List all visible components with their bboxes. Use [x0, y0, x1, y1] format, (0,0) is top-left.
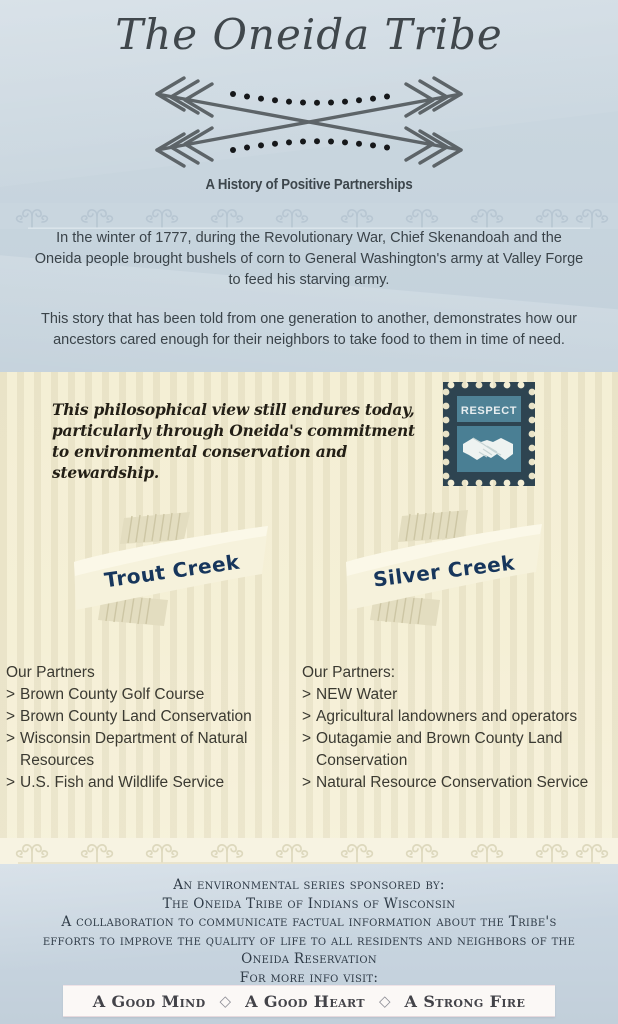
- partner-label: U.S. Fish and Wildlife Service: [20, 774, 224, 791]
- ribbon-banner-silver-creek: Silver Creek: [344, 510, 544, 630]
- bullet-marker-icon: >: [302, 772, 311, 794]
- partners-list-silver-creek: Our Partners: > NEW Water > Agricultural…: [302, 662, 614, 794]
- partner-label: NEW Water: [316, 686, 397, 703]
- sponsor-line: efforts to improve the quality of life t…: [0, 932, 618, 951]
- philosophy-statement: This philosophical view still endures to…: [52, 400, 432, 484]
- partner-label: Agricultural landowners and operators: [316, 708, 577, 725]
- partner-label: Wisconsin Department of Natural Resource…: [20, 730, 247, 769]
- diamond-separator-icon: ◇: [379, 994, 391, 1009]
- infographic-page: The Oneida Tribe: [0, 0, 618, 1024]
- sponsor-line: An environmental series sponsored by:: [0, 876, 618, 895]
- partner-item: > U.S. Fish and Wildlife Service: [6, 772, 298, 794]
- motto-good-mind: A Good Mind: [93, 992, 206, 1011]
- partners-heading-right: Our Partners:: [302, 662, 614, 684]
- partner-label: Brown County Golf Course: [20, 686, 204, 703]
- partner-item: > Brown County Land Conservation: [6, 706, 298, 728]
- partner-label: Brown County Land Conservation: [20, 708, 252, 725]
- diamond-separator-icon: ◇: [220, 994, 232, 1009]
- stamp-label: RESPECT: [461, 405, 517, 417]
- motto-bar: A Good Mind ◇ A Good Heart ◇ A Strong Fi…: [63, 985, 555, 1017]
- ribbon-banner-trout-creek: Trout Creek: [72, 510, 272, 630]
- bullet-marker-icon: >: [6, 706, 15, 728]
- motto-good-heart: A Good Heart: [245, 992, 365, 1011]
- partner-item: > Wisconsin Department of Natural Resour…: [6, 728, 298, 772]
- partner-item: > NEW Water: [302, 684, 614, 706]
- partner-item: > Agricultural landowners and operators: [302, 706, 614, 728]
- partners-items-right: > NEW Water > Agricultural landowners an…: [302, 684, 614, 794]
- partners-heading-left: Our Partners: [6, 662, 298, 684]
- partner-item: > Natural Resource Conservation Service: [302, 772, 614, 794]
- sponsor-line: A collaboration to communicate factual i…: [0, 913, 618, 932]
- crossed-arrows-icon: [129, 72, 489, 172]
- partner-item: > Outagamie and Brown County Land Conser…: [302, 728, 614, 772]
- middle-section: This philosophical view still endures to…: [0, 372, 618, 862]
- bullet-marker-icon: >: [302, 684, 311, 706]
- footer-section: An environmental series sponsored by: Th…: [0, 862, 618, 1024]
- bullet-marker-icon: >: [6, 728, 15, 750]
- partners-items-left: > Brown County Golf Course > Brown Count…: [6, 684, 298, 794]
- hero-section: The Oneida Tribe: [0, 0, 618, 372]
- respect-stamp: RESPECT: [443, 382, 535, 486]
- partner-label: Outagamie and Brown County Land Conserva…: [316, 730, 562, 769]
- decorative-motif-band-top: [0, 203, 618, 229]
- bullet-marker-icon: >: [6, 772, 15, 794]
- story-text-block: In the winter of 1777, during the Revolu…: [0, 228, 618, 351]
- bullet-marker-icon: >: [6, 684, 15, 706]
- story-paragraph-1: In the winter of 1777, during the Revolu…: [34, 228, 584, 291]
- sponsor-line: The Oneida Tribe of Indians of Wisconsin: [0, 895, 618, 914]
- sponsor-line: Oneida Reservation: [0, 950, 618, 969]
- motto-strong-fire: A Strong Fire: [405, 992, 526, 1011]
- partners-list-trout-creek: Our Partners > Brown County Golf Course …: [6, 662, 298, 794]
- partner-item: > Brown County Golf Course: [6, 684, 298, 706]
- bullet-marker-icon: >: [302, 706, 311, 728]
- story-paragraph-2: This story that has been told from one g…: [34, 309, 584, 351]
- page-subtitle: A History of Positive Partnerships: [37, 176, 581, 193]
- partner-label: Natural Resource Conservation Service: [316, 774, 588, 791]
- bullet-marker-icon: >: [302, 728, 311, 750]
- page-title: The Oneida Tribe: [0, 10, 618, 59]
- decorative-motif-band-bottom: [0, 838, 618, 864]
